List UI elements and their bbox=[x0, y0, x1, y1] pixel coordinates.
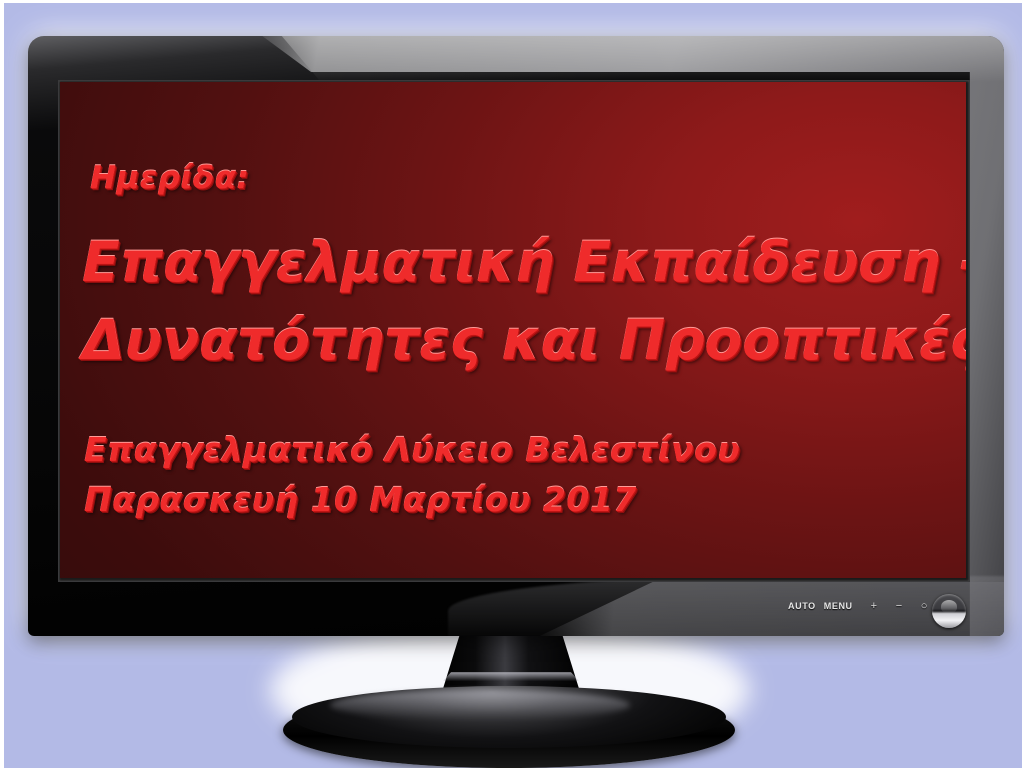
slide-canvas: Ημερίδα: Επαγγελματική Εκπαίδευση - Δυνα… bbox=[0, 0, 1022, 768]
slide-kicker: Ημερίδα: bbox=[90, 160, 249, 196]
minus-button[interactable]: − bbox=[896, 600, 903, 612]
power-button[interactable] bbox=[932, 594, 966, 628]
slide-title-line-2: Δυνατότητες και Προοπτικές bbox=[82, 308, 966, 372]
slide-title-line-1: Επαγγελματική Εκπαίδευση - bbox=[82, 230, 966, 294]
bezel-top-highlight bbox=[28, 36, 1004, 82]
monitor-stand-base-shine bbox=[330, 690, 630, 720]
menu-button[interactable]: MENU bbox=[824, 601, 853, 611]
power-symbol-icon[interactable]: ○ bbox=[921, 600, 928, 612]
slide-subtitle-line-1: Επαγγελματικό Λύκειο Βελεστίνου bbox=[84, 430, 740, 469]
monitor-osd-controls: AUTO MENU + − ○ bbox=[788, 600, 928, 612]
monitor-stand-neck-highlight bbox=[443, 672, 579, 681]
auto-button[interactable]: AUTO bbox=[788, 601, 816, 611]
computer-monitor: Ημερίδα: Επαγγελματική Εκπαίδευση - Δυνα… bbox=[0, 0, 1022, 768]
plus-button[interactable]: + bbox=[871, 600, 878, 612]
monitor-screen: Ημερίδα: Επαγγελματική Εκπαίδευση - Δυνα… bbox=[60, 82, 966, 578]
slide-subtitle-line-2: Παρασκευή 10 Μαρτίου 2017 bbox=[84, 480, 637, 519]
